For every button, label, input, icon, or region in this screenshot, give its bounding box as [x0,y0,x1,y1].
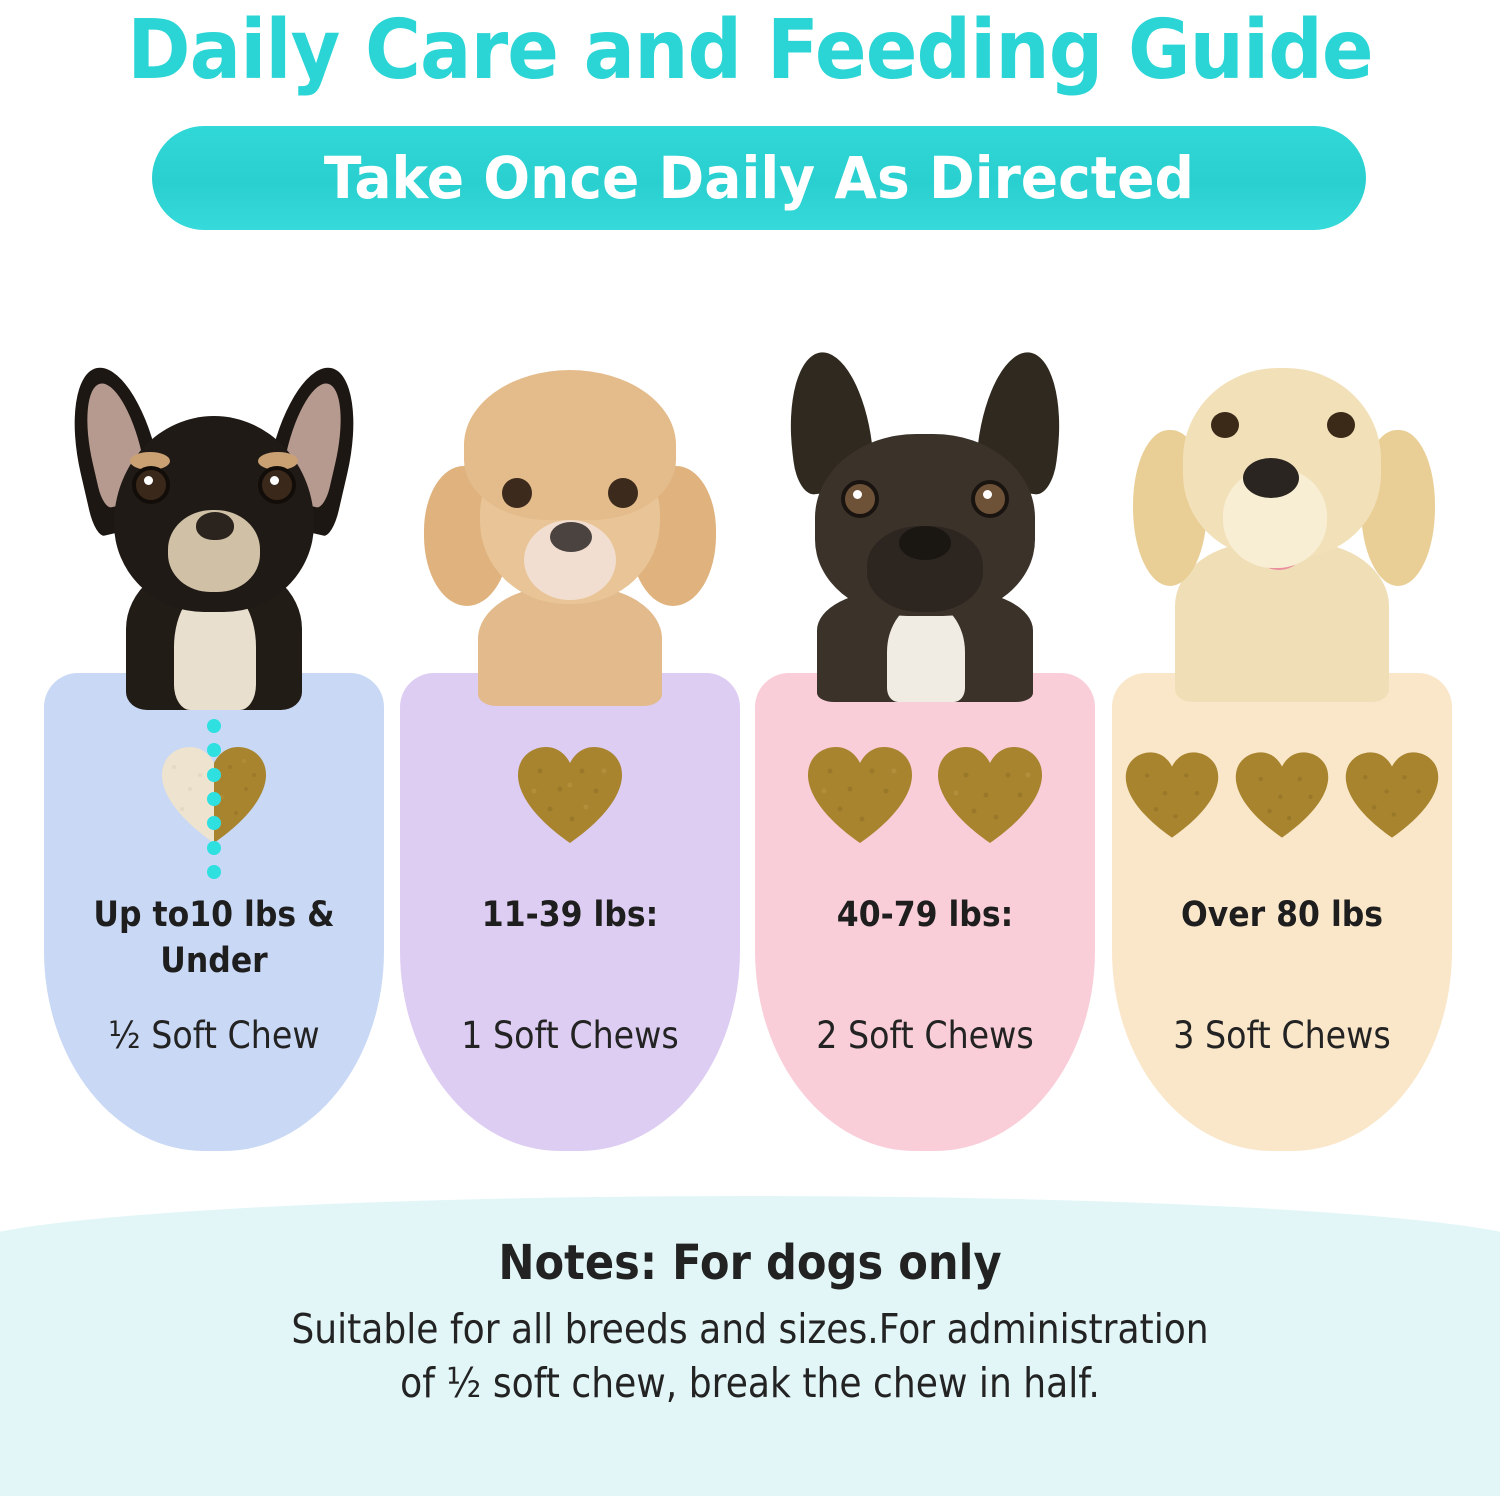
chew-illustration-group [400,730,740,860]
dosage-card: 40-79 lbs: 2 Soft Chews [755,300,1095,1180]
card-weight-label: Over 80 lbs [1129,892,1435,938]
banner-text: Take Once Daily As Directed [324,147,1194,209]
dosage-card-grid: Up to10 lbs & Under ½ Soft Chew [0,300,1500,1180]
notes-section: Notes: For dogs only Suitable for all br… [0,1232,1500,1410]
dog-photo-golden-retriever [1112,300,1452,700]
soft-chew-icon [1234,750,1330,840]
card-weight-label: 40-79 lbs: [772,892,1078,938]
card-dose-label: ½ Soft Chew [61,1014,367,1058]
notes-title: Notes: For dogs only [75,1232,1425,1294]
notes-body-line-2: of ½ soft chew, break the chew in half. [90,1356,1410,1410]
dog-photo-chihuahua [44,300,384,700]
card-weight-label: Up to10 lbs & Under [61,892,367,984]
half-soft-chew-icon [160,745,268,845]
dog-photo-toy-poodle [400,300,740,700]
dosage-card: Up to10 lbs & Under ½ Soft Chew [44,300,384,1180]
card-dose-label: 1 Soft Chews [417,1014,723,1058]
soft-chew-icon [1344,750,1440,840]
soft-chew-icon [1124,750,1220,840]
soft-chew-icon [516,745,624,845]
dosage-card: 11-39 lbs: 1 Soft Chews [400,300,740,1180]
chew-break-line [206,719,222,879]
chew-illustration-group [44,730,384,860]
soft-chew-icon [806,745,914,845]
dog-photo-french-bulldog [755,300,1095,700]
card-weight-label: 11-39 lbs: [417,892,723,938]
directions-banner: Take Once Daily As Directed [152,126,1366,230]
dosage-card: Over 80 lbs 3 Soft Chews [1112,300,1452,1180]
card-dose-label: 3 Soft Chews [1129,1014,1435,1058]
notes-body-line-1: Suitable for all breeds and sizes.For ad… [90,1302,1410,1356]
soft-chew-icon [936,745,1044,845]
card-dose-label: 2 Soft Chews [772,1014,1078,1058]
chew-illustration-group [755,730,1095,860]
chew-illustration-group [1112,730,1452,860]
page-title: Daily Care and Feeding Guide [53,4,1448,98]
